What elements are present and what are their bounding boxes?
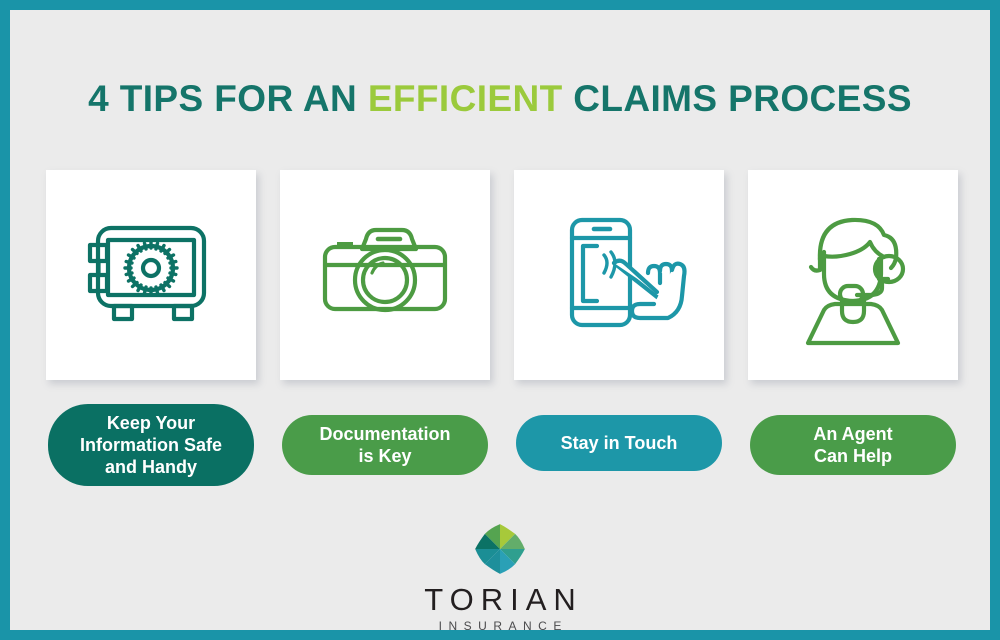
tip-card-3 <box>514 170 724 380</box>
safe-vault-icon <box>76 200 226 350</box>
tip-pill-3[interactable]: Stay in Touch <box>516 415 722 471</box>
page-title: 4 TIPS FOR AN EFFICIENT CLAIMS PROCESS <box>10 78 990 120</box>
title-accent-word: EFFICIENT <box>368 78 563 119</box>
tip-pill-4-label: An Agent Can Help <box>813 423 892 467</box>
infographic-canvas: 4 TIPS FOR AN EFFICIENT CLAIMS PROCESS <box>10 10 990 630</box>
pill-slot-2: Documentation is Key <box>280 404 490 475</box>
pill-slot-1: Keep Your Information Safe and Handy <box>46 404 256 486</box>
tip-pill-1-label: Keep Your Information Safe and Handy <box>80 412 222 478</box>
tip-label-pills: Keep Your Information Safe and Handy Doc… <box>46 404 958 504</box>
title-part-two: CLAIMS PROCESS <box>563 78 912 119</box>
tip-pill-1[interactable]: Keep Your Information Safe and Handy <box>48 404 254 486</box>
smartphone-touch-icon <box>544 200 694 350</box>
camera-icon <box>310 200 460 350</box>
pill-slot-4: An Agent Can Help <box>748 404 958 475</box>
logo-subtitle: INSURANCE <box>432 619 568 630</box>
pill-slot-3: Stay in Touch <box>514 404 724 471</box>
tip-card-1 <box>46 170 256 380</box>
tip-pill-4[interactable]: An Agent Can Help <box>750 415 956 475</box>
tip-card-2 <box>280 170 490 380</box>
tip-card-4 <box>748 170 958 380</box>
logo-wordmark: TORIAN <box>417 584 583 616</box>
title-part-one: 4 TIPS FOR AN <box>88 78 368 119</box>
tip-pill-3-label: Stay in Touch <box>561 432 678 454</box>
infographic-frame: 4 TIPS FOR AN EFFICIENT CLAIMS PROCESS <box>0 0 1000 640</box>
tip-pill-2[interactable]: Documentation is Key <box>282 415 488 475</box>
tip-pill-2-label: Documentation is Key <box>319 423 450 467</box>
brand-logo: TORIAN INSURANCE <box>10 522 990 630</box>
torian-pinwheel-logo-icon <box>473 522 527 576</box>
support-agent-headset-icon <box>778 200 928 350</box>
tip-icon-cards <box>46 170 958 382</box>
